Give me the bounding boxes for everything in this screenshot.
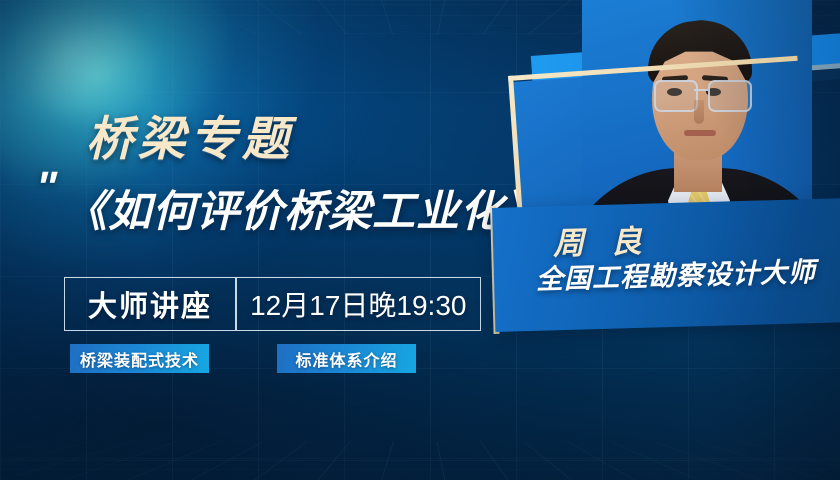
lecture-info-box: 大师讲座 12月17日晚19:30 <box>64 277 481 331</box>
lecture-datetime: 12月17日晚19:30 <box>250 284 466 324</box>
lecture-label: 大师讲座 <box>88 283 212 325</box>
speaker-name: 周 良 <box>553 220 840 261</box>
quote-open-mark: " <box>31 166 62 210</box>
headline-block: 桥梁专题 " 《如何评价桥梁工业化》 " 大师讲座 12月17日晚19:30 桥… <box>0 0 540 480</box>
promo-poster: 桥梁专题 " 《如何评价桥梁工业化》 " 大师讲座 12月17日晚19:30 桥… <box>0 0 840 480</box>
speaker-nameplate: 周 良 全国工程勘察设计大师 <box>492 198 840 332</box>
topic-heading: 桥梁专题 <box>86 100 294 169</box>
topic-tag-2: 标准体系介绍 <box>277 344 416 373</box>
lecture-label-cell: 大师讲座 <box>65 278 235 330</box>
lecture-datetime-cell: 12月17日晚19:30 <box>237 278 480 330</box>
speaker-composition: 周 良 全国工程勘察设计大师 <box>470 0 840 480</box>
nameplate-content: 周 良 全国工程勘察设计大师 <box>492 198 840 332</box>
speaker-title: 全国工程勘察设计大师 <box>536 256 840 295</box>
topic-tag-1: 桥梁装配式技术 <box>70 344 209 373</box>
